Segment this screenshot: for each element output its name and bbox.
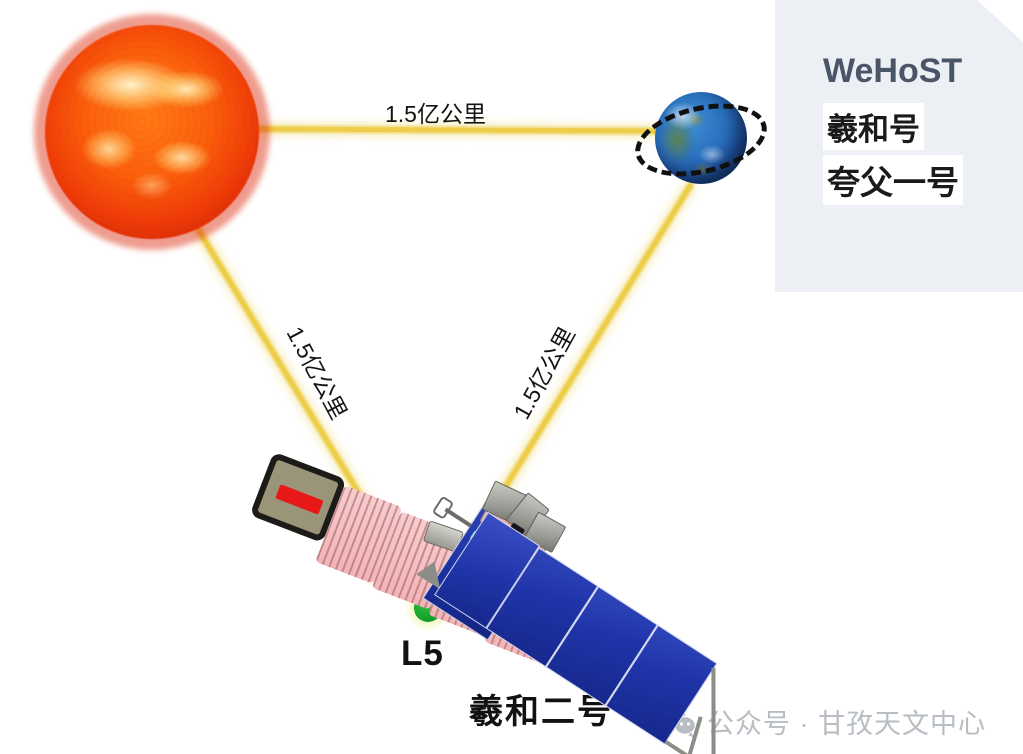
info-panel: WeHoST 羲和号 夸父一号	[775, 0, 1023, 292]
distance-label-sun-earth: 1.5亿公里	[385, 95, 486, 129]
panel-title: WeHoST	[823, 52, 962, 91]
panel-corner-fold	[977, 0, 1023, 42]
sun-body	[34, 14, 270, 250]
sun-surface-texture	[45, 25, 259, 239]
line-sun-earth	[252, 129, 655, 131]
diagram-canvas: 1.5亿公里 1.5亿公里 1.5亿公里 L5	[0, 0, 1023, 754]
l5-label: L5	[401, 634, 444, 674]
earth-body	[651, 88, 751, 188]
sun-disc	[45, 25, 259, 239]
panel-mission-kuafu: 夸父一号	[823, 155, 963, 205]
panel-mission-xihe: 羲和号	[823, 103, 924, 150]
red-flag-marking	[275, 484, 323, 514]
